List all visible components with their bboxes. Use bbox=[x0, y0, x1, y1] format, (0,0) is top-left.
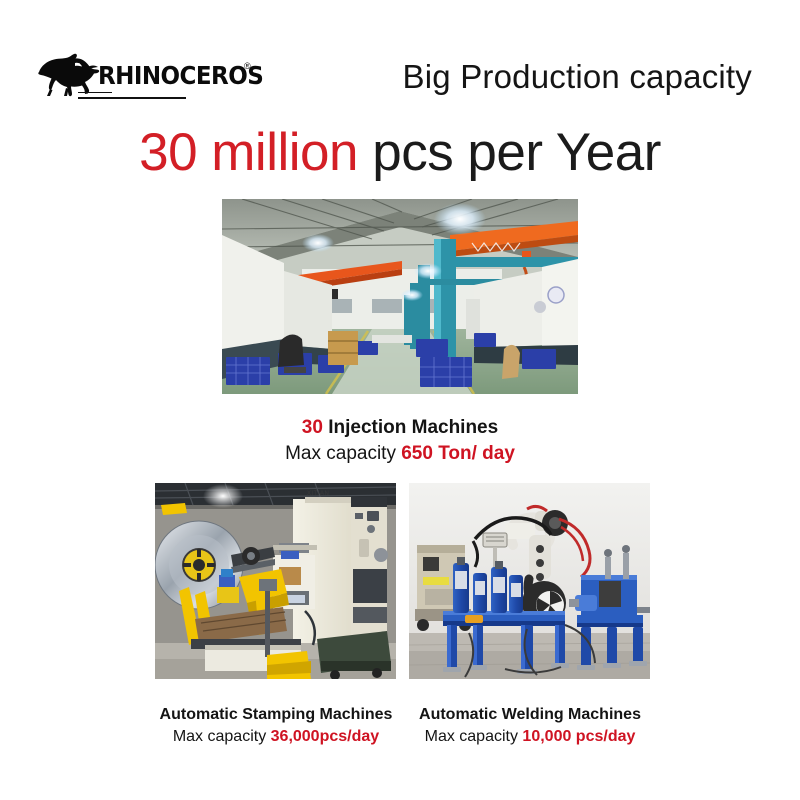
headline-highlight: 30 million bbox=[139, 123, 358, 182]
injection-count: 30 bbox=[302, 417, 323, 438]
logo-underline bbox=[78, 97, 186, 99]
injection-capacity-label: Max capacity bbox=[285, 443, 401, 464]
logo-underline-short bbox=[78, 92, 112, 93]
svg-text:XITIAN: XITIAN bbox=[307, 491, 329, 497]
injection-workshop-photo bbox=[222, 199, 578, 394]
brand-wordmark: RHINOCEROS bbox=[98, 63, 263, 88]
welding-robot-photo bbox=[409, 483, 650, 679]
injection-capacity-value: 650 Ton/ day bbox=[401, 443, 515, 464]
welding-caption: Automatic Welding Machines Max capacity … bbox=[378, 705, 682, 748]
injection-caption: 30 Injection Machines Max capacity 650 T… bbox=[0, 416, 800, 467]
stamping-capacity-label: Max capacity bbox=[173, 728, 271, 745]
headline: 30 million pcs per Year bbox=[0, 126, 800, 179]
injection-title-text: Injection Machines bbox=[323, 417, 498, 438]
stamping-machine-photo: XITIAN bbox=[155, 483, 396, 679]
injection-caption-title: 30 Injection Machines bbox=[0, 416, 800, 440]
brand-logo: RHINOCEROS ® bbox=[36, 52, 246, 104]
welding-capacity-label: Max capacity bbox=[425, 728, 523, 745]
headline-rest: pcs per Year bbox=[358, 123, 661, 182]
registered-trademark-symbol: ® bbox=[244, 61, 251, 71]
injection-caption-capacity: Max capacity 650 Ton/ day bbox=[0, 442, 800, 466]
stamping-capacity-value: 36,000pcs/day bbox=[271, 728, 380, 745]
welding-caption-title: Automatic Welding Machines bbox=[378, 705, 682, 725]
welding-caption-capacity: Max capacity 10,000 pcs/day bbox=[378, 727, 682, 747]
welding-capacity-value: 10,000 pcs/day bbox=[522, 728, 635, 745]
page-title: Big Production capacity bbox=[403, 58, 752, 96]
